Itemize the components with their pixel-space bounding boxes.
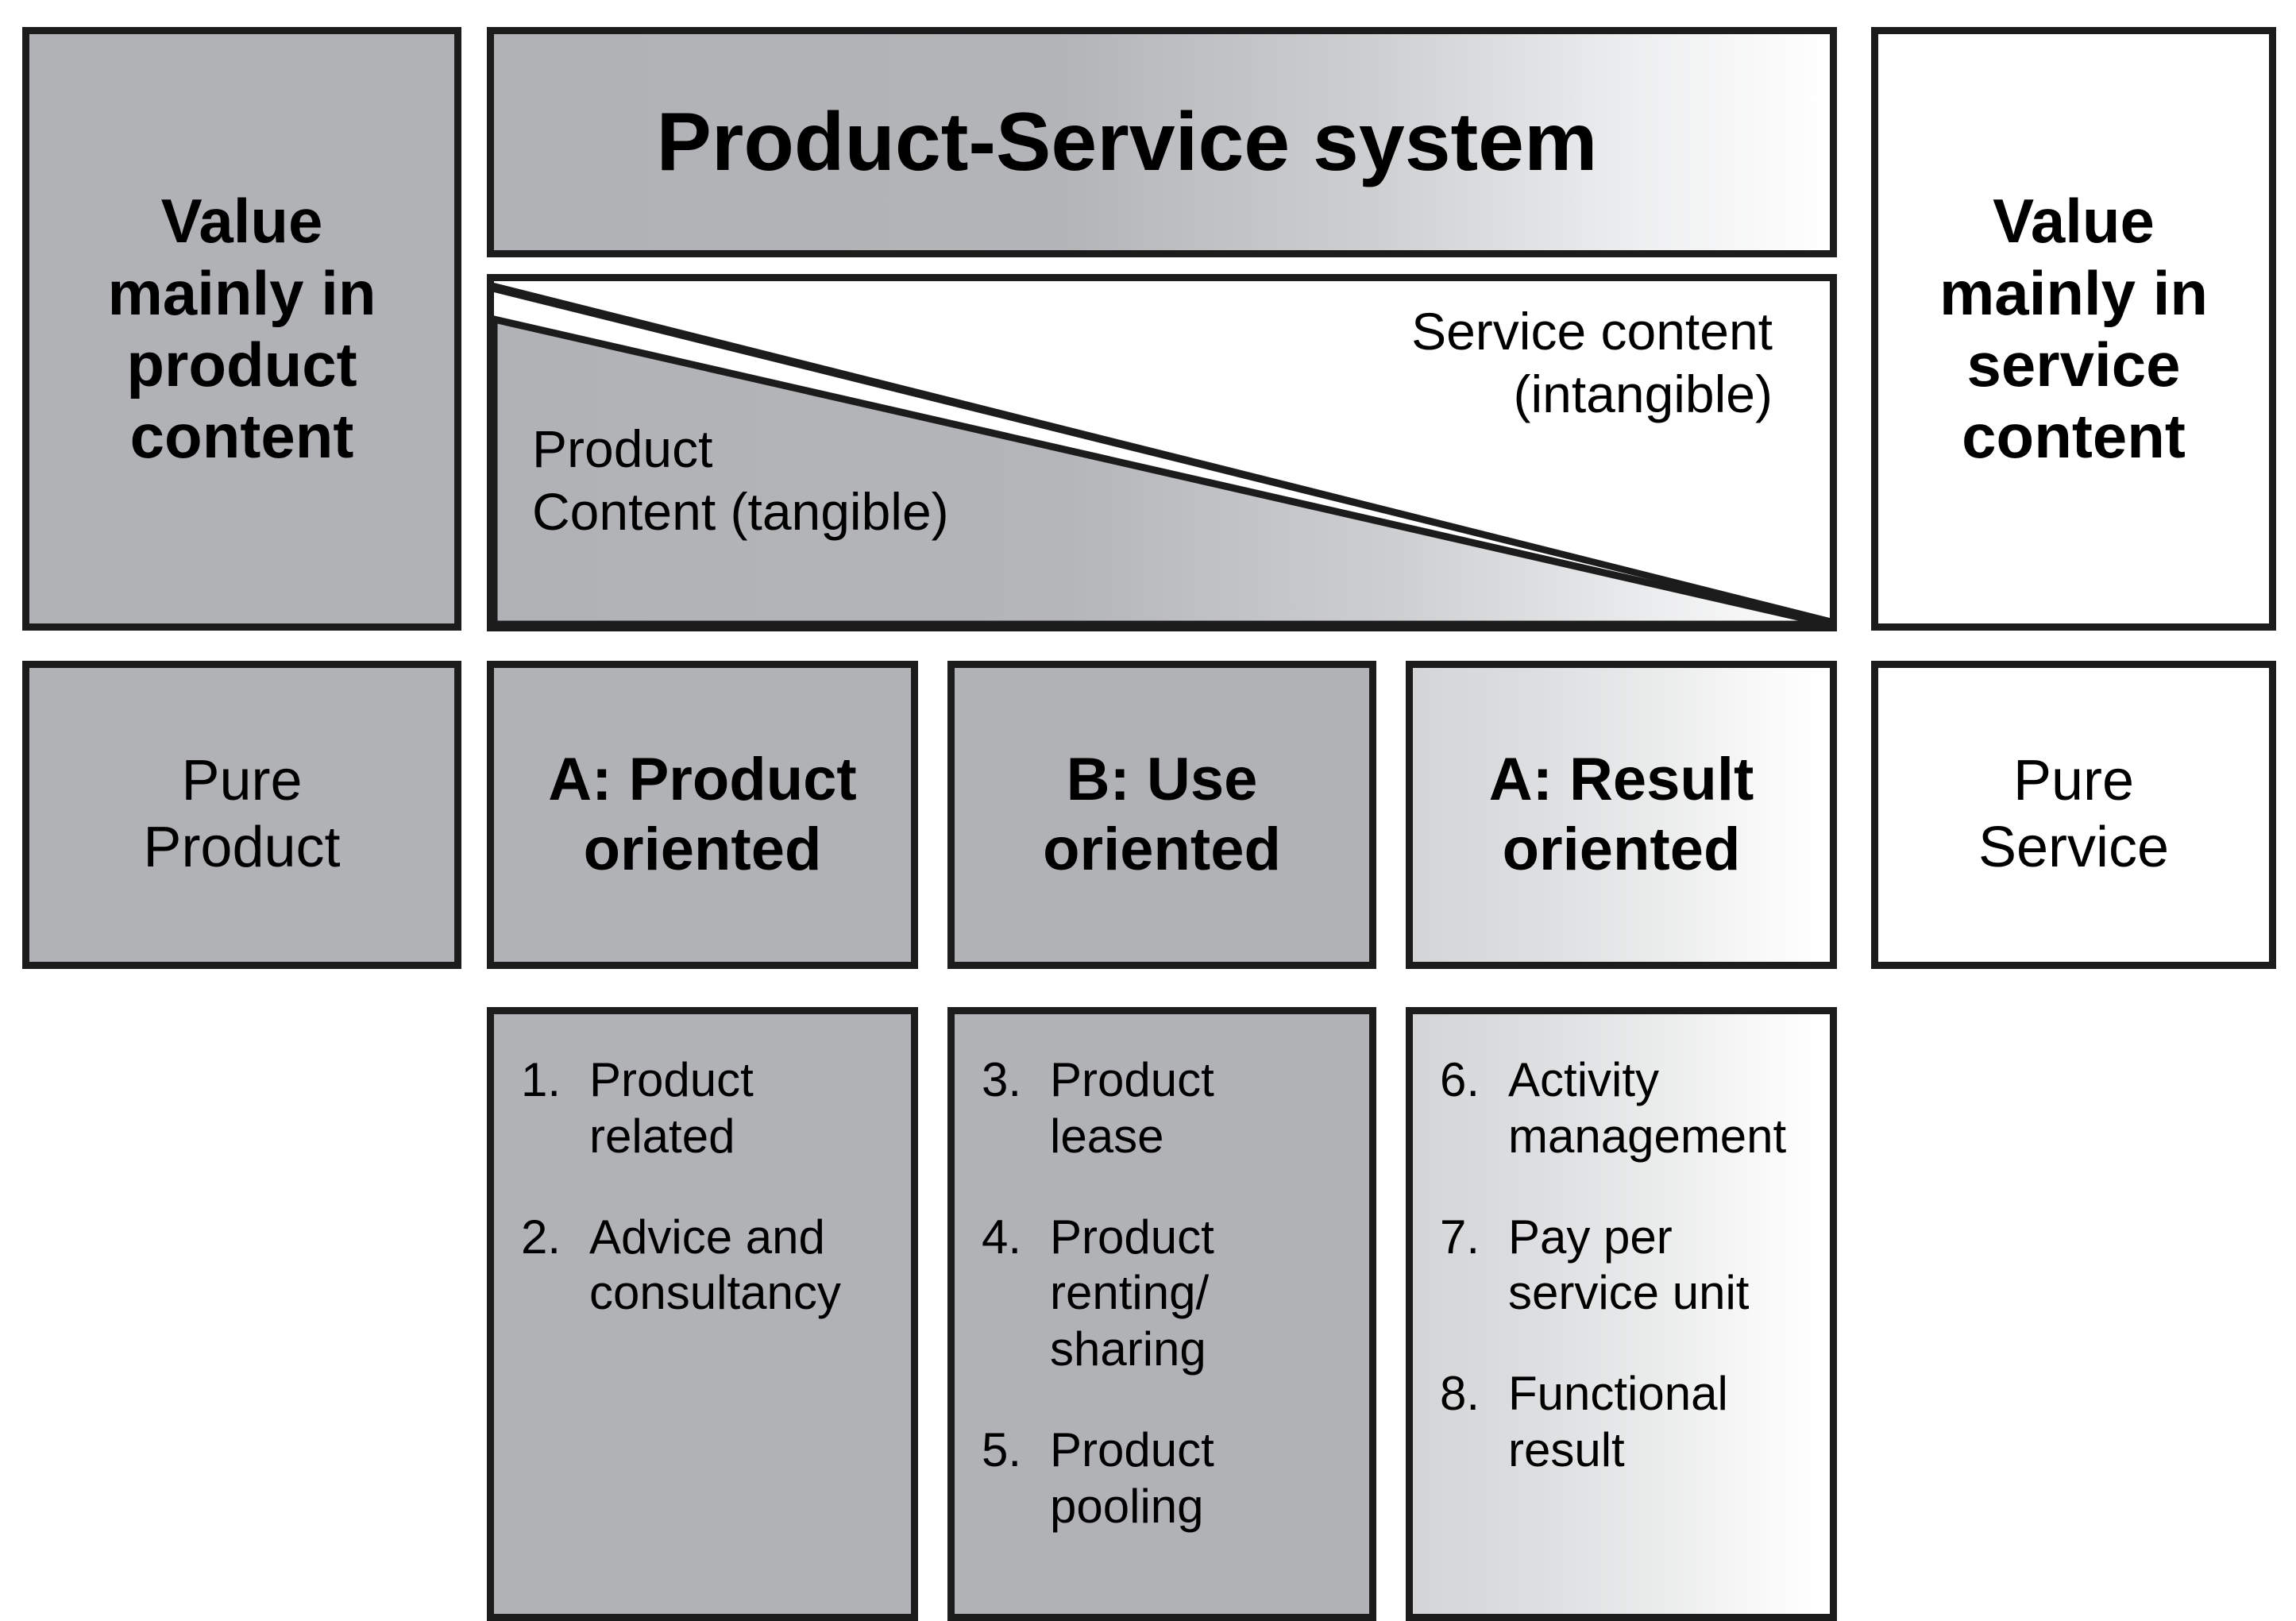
list-item-text: Product renting/ sharing <box>1050 1210 1350 1378</box>
list-item-text: Activity management <box>1508 1052 1811 1165</box>
list-box-result-oriented: 6. Activity management 7. Pay per servic… <box>1406 1007 1837 1621</box>
list-item-number: 8. <box>1440 1366 1508 1422</box>
right-value-label: Value mainly in service content <box>1939 185 2208 473</box>
psd-diagram-canvas: Value mainly in product content Pure Pro… <box>0 0 2296 1621</box>
list-item-number: 3. <box>982 1052 1050 1109</box>
list-item: 5. Product pooling <box>982 1422 1350 1535</box>
category-box-product-oriented: A: Product oriented <box>487 661 918 969</box>
list-item-number: 6. <box>1440 1052 1508 1109</box>
list-item-text: Functional result <box>1508 1366 1811 1479</box>
category-label-use-oriented: B: Use oriented <box>1043 745 1281 885</box>
list-item: 6. Activity management <box>1440 1052 1811 1165</box>
list-item-number: 4. <box>982 1210 1050 1266</box>
right-value-box: Value mainly in service content <box>1871 27 2276 631</box>
service-content-label: Service content (intangible) <box>1411 300 1773 426</box>
list-item-text: Product pooling <box>1050 1422 1350 1535</box>
category-box-use-oriented: B: Use oriented <box>947 661 1376 969</box>
category-box-result-oriented: A: Result oriented <box>1406 661 1837 969</box>
list-item-text: Product lease <box>1050 1052 1350 1165</box>
list-item: 4. Product renting/ sharing <box>982 1210 1350 1378</box>
list-item: 7. Pay per service unit <box>1440 1210 1811 1322</box>
list-item-number: 2. <box>521 1210 589 1266</box>
pure-product-box: Pure Product <box>22 661 461 969</box>
list-box-use-oriented: 3. Product lease 4. Product renting/ sha… <box>947 1007 1376 1621</box>
list-box-product-oriented: 1. Product related 2. Advice and consult… <box>487 1007 918 1621</box>
list-item-number: 7. <box>1440 1210 1508 1266</box>
left-value-label: Value mainly in product content <box>107 185 376 473</box>
list-item-text: Advice and consultancy <box>589 1210 892 1322</box>
pure-product-label: Pure Product <box>143 748 340 881</box>
list-item-text: Pay per service unit <box>1508 1210 1811 1322</box>
list-item: 1. Product related <box>521 1052 892 1165</box>
left-value-box: Value mainly in product content <box>22 27 461 631</box>
product-service-system-header: Product-Service system <box>487 27 1837 257</box>
pure-service-box: Pure Service <box>1871 661 2276 969</box>
list-item-number: 5. <box>982 1422 1050 1479</box>
list-item: 3. Product lease <box>982 1052 1350 1165</box>
list-item: 2. Advice and consultancy <box>521 1210 892 1322</box>
list-item: 8. Functional result <box>1440 1366 1811 1479</box>
list-item-number: 1. <box>521 1052 589 1109</box>
category-label-result-oriented: A: Result oriented <box>1489 745 1754 885</box>
list-item-text: Product related <box>589 1052 892 1165</box>
content-balance-wedge-box: Service content (intangible) Product Con… <box>487 274 1837 631</box>
pure-service-label: Pure Service <box>1978 748 2169 881</box>
category-label-product-oriented: A: Product oriented <box>548 745 856 885</box>
product-content-label: Product Content (tangible) <box>532 418 949 543</box>
product-service-system-title: Product-Service system <box>657 95 1598 191</box>
